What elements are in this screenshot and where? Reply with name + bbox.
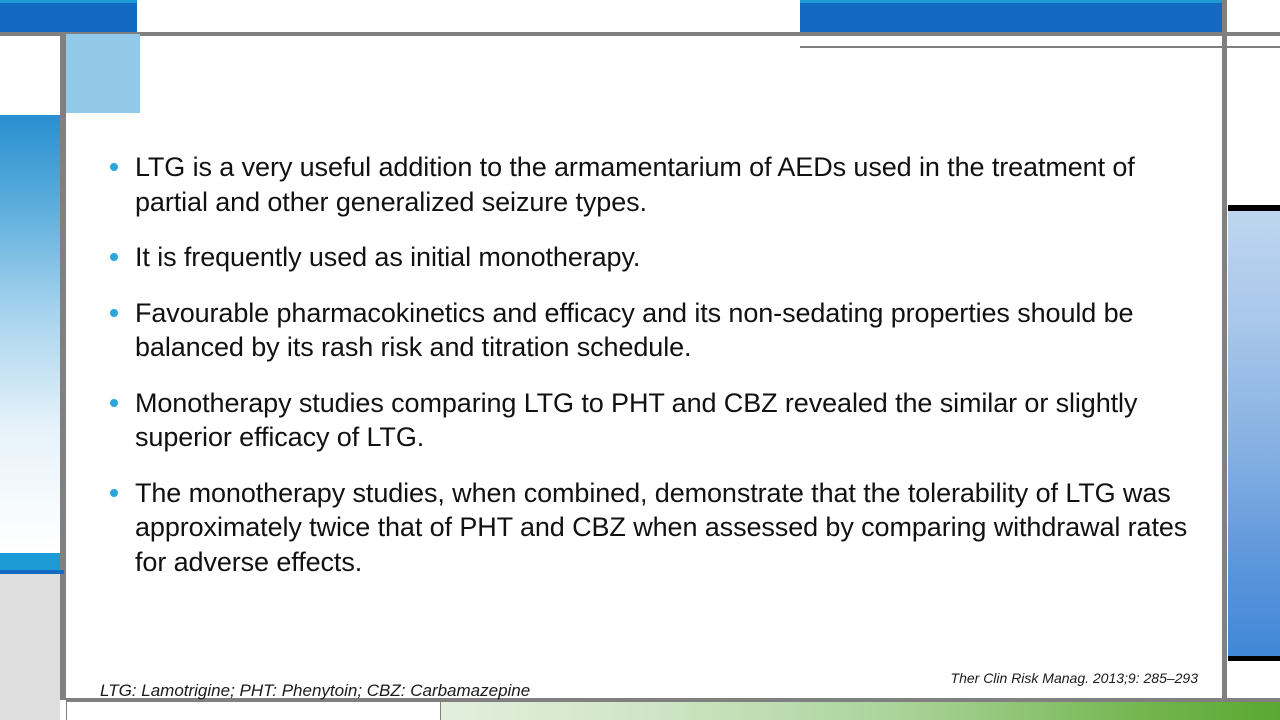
slide-canvas: LTG is a very useful addition to the arm… xyxy=(0,0,1280,720)
right-gradient-strip xyxy=(1228,205,1280,661)
bullet-text: It is frequently used as initial monothe… xyxy=(135,242,640,272)
bullet-item: The monotherapy studies, when combined, … xyxy=(100,476,1205,580)
bullet-dot-icon xyxy=(110,489,118,497)
bullet-item: It is frequently used as initial monothe… xyxy=(100,240,1205,275)
bottom-green-strip xyxy=(440,702,1280,720)
bullet-dot-icon xyxy=(110,253,118,261)
bullet-text: Favourable pharmacokinetics and efficacy… xyxy=(135,298,1133,363)
bullet-text: The monotherapy studies, when combined, … xyxy=(135,478,1187,577)
bullet-dot-icon xyxy=(110,399,118,407)
bullet-text: Monotherapy studies comparing LTG to PHT… xyxy=(135,388,1137,453)
source-citation: Ther Clin Risk Manag. 2013;9: 285–293 xyxy=(951,670,1198,686)
bullet-item: LTG is a very useful addition to the arm… xyxy=(100,150,1205,219)
slide-body: LTG is a very useful addition to the arm… xyxy=(100,150,1205,579)
vertical-rule-right xyxy=(1222,0,1227,700)
abbreviation-footnote: LTG: Lamotrigine; PHT: Phenytoin; CBZ: C… xyxy=(100,681,530,701)
horizontal-rule-top xyxy=(0,32,1280,36)
bullet-list: LTG is a very useful addition to the arm… xyxy=(100,150,1205,579)
horizontal-rule-upper-thin xyxy=(800,46,1280,48)
left-gray-panel xyxy=(0,574,60,720)
bullet-text: LTG is a very useful addition to the arm… xyxy=(135,152,1135,217)
left-gradient-strip xyxy=(0,115,60,552)
bullet-dot-icon xyxy=(110,309,118,317)
left-accent-bar xyxy=(0,553,60,570)
top-right-blue-bar xyxy=(800,0,1223,33)
top-left-blue-bar xyxy=(0,0,137,33)
vertical-rule-left xyxy=(60,32,66,700)
bullet-dot-icon xyxy=(110,163,118,171)
bottom-white-strip xyxy=(66,702,440,720)
light-blue-accent-box xyxy=(66,34,140,113)
bullet-item: Monotherapy studies comparing LTG to PHT… xyxy=(100,386,1205,455)
bullet-item: Favourable pharmacokinetics and efficacy… xyxy=(100,296,1205,365)
